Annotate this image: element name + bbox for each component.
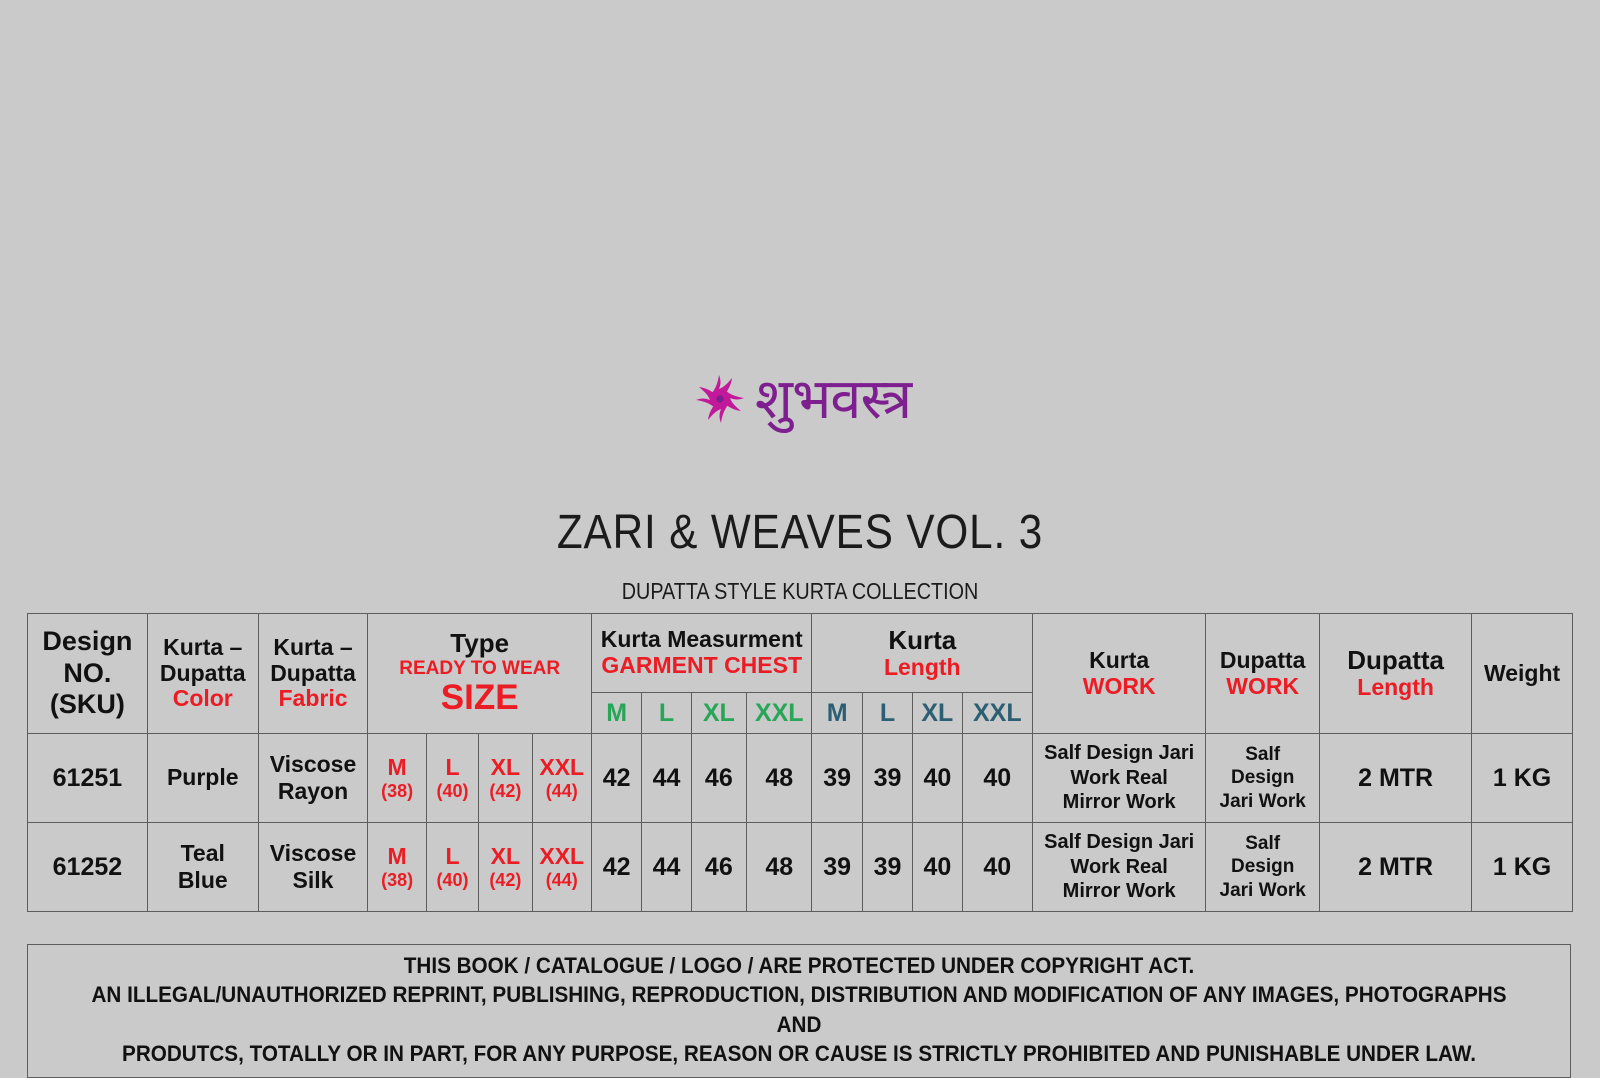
cell-dupatta-work: Salf Design Jari Work xyxy=(1206,823,1320,912)
spec-table-wrapper: Design NO. (SKU) Kurta – Dupatta Color K… xyxy=(27,613,1573,912)
table-header-row-groups: Design NO. (SKU) Kurta – Dupatta Color K… xyxy=(28,614,1573,693)
chest-size-label: M xyxy=(606,699,627,727)
header-chest-xl: XL xyxy=(691,693,746,734)
length-size-label: XL xyxy=(921,699,953,727)
cell-chest-m: 42 xyxy=(591,734,641,823)
cell-length-m: 39 xyxy=(812,823,862,912)
swirl-ornament-icon xyxy=(689,369,751,431)
cell-size-xl: XL (42) xyxy=(479,734,532,823)
copyright-line-1: THIS BOOK / CATALOGUE / LOGO / ARE PROTE… xyxy=(78,951,1520,980)
length-size-label: L xyxy=(880,699,895,727)
header-chest-xxl: XXL xyxy=(747,693,812,734)
brand-name: शुभवस्त्र xyxy=(755,372,911,428)
copyright-notice: THIS BOOK / CATALOGUE / LOGO / ARE PROTE… xyxy=(27,944,1571,1078)
cell-dupatta-work: Salf Design Jari Work xyxy=(1206,734,1320,823)
cell-chest-xl: 46 xyxy=(691,734,746,823)
cell-chest-xl: 46 xyxy=(691,823,746,912)
cell-sku: 61252 xyxy=(28,823,148,912)
cell-size-xl: XL (42) xyxy=(479,823,532,912)
header-kurta-work: Kurta WORK xyxy=(1033,614,1206,734)
cell-chest-l: 44 xyxy=(642,823,691,912)
cell-size-m: M (38) xyxy=(368,734,426,823)
spec-table: Design NO. (SKU) Kurta – Dupatta Color K… xyxy=(27,613,1573,912)
header-weight: Weight xyxy=(1472,614,1573,734)
header-dupatta-length: Dupatta Length xyxy=(1320,614,1472,734)
cell-chest-xxl: 48 xyxy=(747,823,812,912)
cell-weight: 1 KG xyxy=(1472,734,1573,823)
cell-sku: 61251 xyxy=(28,734,148,823)
header-length-xl: XL xyxy=(913,693,962,734)
cell-size-l: L (40) xyxy=(426,734,478,823)
brand-logo: शुभवस्त्र xyxy=(0,352,1600,448)
header-dupatta-work: Dupatta WORK xyxy=(1206,614,1320,734)
cell-chest-xxl: 48 xyxy=(747,734,812,823)
chest-size-label: L xyxy=(659,699,674,727)
catalogue-page: शुभवस्त्र ZARI & WEAVES VOL. 3 DUPATTA S… xyxy=(0,0,1600,1066)
cell-kurta-work: Salf Design Jari Work Real Mirror Work xyxy=(1033,823,1206,912)
header-kurta-dupatta-fabric: Kurta – Dupatta Fabric xyxy=(258,614,368,734)
cell-length-xxl: 40 xyxy=(962,734,1033,823)
cell-length-l: 39 xyxy=(862,823,912,912)
header-chest-l: L xyxy=(642,693,691,734)
header-length-m: M xyxy=(812,693,862,734)
page-title: ZARI & WEAVES VOL. 3 xyxy=(96,505,1504,560)
cell-color: Teal Blue xyxy=(147,823,258,912)
cell-chest-m: 42 xyxy=(591,823,641,912)
copyright-line-3: PRODUTCS, TOTALLY OR IN PART, FOR ANY PU… xyxy=(78,1039,1520,1068)
cell-weight: 1 KG xyxy=(1472,823,1573,912)
cell-size-xxl: XXL (44) xyxy=(532,734,591,823)
header-type-size: Type READY TO WEAR SIZE xyxy=(368,614,592,734)
table-row: 61252 Teal Blue Viscose Silk M (38) L (4… xyxy=(28,823,1573,912)
cell-chest-l: 44 xyxy=(642,734,691,823)
header-design-no: Design NO. (SKU) xyxy=(28,614,148,734)
cell-fabric: Viscose Rayon xyxy=(258,734,368,823)
cell-length-xl: 40 xyxy=(913,734,962,823)
cell-color: Purple xyxy=(147,734,258,823)
copyright-line-2: AN ILLEGAL/UNAUTHORIZED REPRINT, PUBLISH… xyxy=(78,980,1520,1039)
chest-size-label: XXL xyxy=(755,699,804,727)
cell-dupatta-length: 2 MTR xyxy=(1320,734,1472,823)
cell-length-m: 39 xyxy=(812,734,862,823)
table-row: 61251 Purple Viscose Rayon M (38) L (40)… xyxy=(28,734,1573,823)
chest-size-label: XL xyxy=(703,699,735,727)
page-subtitle: DUPATTA STYLE KURTA COLLECTION xyxy=(112,578,1488,605)
header-kurta-dupatta-color: Kurta – Dupatta Color xyxy=(147,614,258,734)
cell-length-l: 39 xyxy=(862,734,912,823)
header-length-l: L xyxy=(862,693,912,734)
cell-length-xxl: 40 xyxy=(962,823,1033,912)
cell-fabric: Viscose Silk xyxy=(258,823,368,912)
length-size-label: M xyxy=(827,699,848,727)
cell-size-l: L (40) xyxy=(426,823,478,912)
cell-kurta-work: Salf Design Jari Work Real Mirror Work xyxy=(1033,734,1206,823)
cell-size-m: M (38) xyxy=(368,823,426,912)
length-size-label: XXL xyxy=(973,699,1022,727)
cell-dupatta-length: 2 MTR xyxy=(1320,823,1472,912)
header-kurta-length: Kurta Length xyxy=(812,614,1033,693)
cell-length-xl: 40 xyxy=(913,823,962,912)
header-length-xxl: XXL xyxy=(962,693,1033,734)
header-kurta-measurement: Kurta Measurment GARMENT CHEST xyxy=(591,614,812,693)
cell-size-xxl: XXL (44) xyxy=(532,823,591,912)
header-chest-m: M xyxy=(591,693,641,734)
